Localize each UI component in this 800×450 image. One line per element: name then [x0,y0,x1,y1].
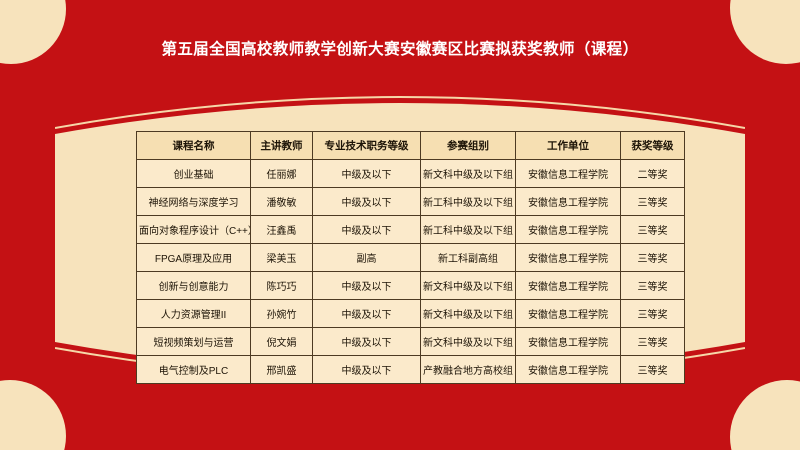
cell-teacher: 任丽娜 [251,160,313,188]
page-title: 第五届全国高校教师教学创新大赛安徽赛区比赛拟获奖教师（课程） [0,37,800,59]
award-table-body: 创业基础 任丽娜 中级及以下 新文科中级及以下组 安徽信息工程学院 二等奖 神经… [137,160,685,384]
cell-rank: 中级及以下 [313,272,421,300]
cell-teacher: 潘敬敏 [251,188,313,216]
table-row: 创新与创意能力 陈巧巧 中级及以下 新文科中级及以下组 安徽信息工程学院 三等奖 [137,272,685,300]
column-header-rank: 专业技术职务等级 [313,132,421,160]
cell-group: 新文科中级及以下组 [421,328,516,356]
cell-teacher: 汪鑫禹 [251,216,313,244]
cell-award: 三等奖 [621,188,685,216]
column-header-award: 获奖等级 [621,132,685,160]
cell-teacher: 陈巧巧 [251,272,313,300]
cell-group: 产教融合地方高校组 [421,356,516,384]
cell-teacher: 倪文娟 [251,328,313,356]
cell-course: 创新与创意能力 [137,272,251,300]
cell-award: 三等奖 [621,328,685,356]
table-row: 电气控制及PLC 邢凯盛 中级及以下 产教融合地方高校组 安徽信息工程学院 三等… [137,356,685,384]
cell-rank: 中级及以下 [313,188,421,216]
table-row: 人力资源管理II 孙婉竹 中级及以下 新文科中级及以下组 安徽信息工程学院 三等… [137,300,685,328]
cell-award: 三等奖 [621,300,685,328]
table-row: 短视频策划与运营 倪文娟 中级及以下 新文科中级及以下组 安徽信息工程学院 三等… [137,328,685,356]
cell-group: 新工科中级及以下组 [421,216,516,244]
cell-unit: 安徽信息工程学院 [516,216,621,244]
cell-unit: 安徽信息工程学院 [516,272,621,300]
table-row: 神经网络与深度学习 潘敬敏 中级及以下 新工科中级及以下组 安徽信息工程学院 三… [137,188,685,216]
cell-rank: 中级及以下 [313,160,421,188]
cell-award: 三等奖 [621,216,685,244]
cell-course: 面向对象程序设计（C++） [137,216,251,244]
cell-unit: 安徽信息工程学院 [516,188,621,216]
cell-teacher: 梁美玉 [251,244,313,272]
cell-teacher: 邢凯盛 [251,356,313,384]
cell-rank: 中级及以下 [313,356,421,384]
table-row: 创业基础 任丽娜 中级及以下 新文科中级及以下组 安徽信息工程学院 二等奖 [137,160,685,188]
cell-award: 三等奖 [621,244,685,272]
award-table: 课程名称 主讲教师 专业技术职务等级 参赛组别 工作单位 获奖等级 创业基础 任… [136,131,685,384]
column-header-group: 参赛组别 [421,132,516,160]
cell-course: 创业基础 [137,160,251,188]
cell-group: 新文科中级及以下组 [421,272,516,300]
cell-award: 三等奖 [621,272,685,300]
decorative-circle-bottom-right [730,380,800,450]
cell-course: FPGA原理及应用 [137,244,251,272]
cell-course: 电气控制及PLC [137,356,251,384]
column-header-course: 课程名称 [137,132,251,160]
table-row: FPGA原理及应用 梁美玉 副高 新工科副高组 安徽信息工程学院 三等奖 [137,244,685,272]
award-table-container: 课程名称 主讲教师 专业技术职务等级 参赛组别 工作单位 获奖等级 创业基础 任… [136,131,684,384]
column-header-teacher: 主讲教师 [251,132,313,160]
cell-unit: 安徽信息工程学院 [516,300,621,328]
cell-rank: 副高 [313,244,421,272]
cell-award: 三等奖 [621,356,685,384]
cell-group: 新工科中级及以下组 [421,188,516,216]
cell-course: 神经网络与深度学习 [137,188,251,216]
cell-unit: 安徽信息工程学院 [516,160,621,188]
cell-teacher: 孙婉竹 [251,300,313,328]
decorative-circle-bottom-left [0,380,66,450]
cell-group: 新文科中级及以下组 [421,300,516,328]
cell-rank: 中级及以下 [313,328,421,356]
cell-course: 短视频策划与运营 [137,328,251,356]
column-header-unit: 工作单位 [516,132,621,160]
cell-award: 二等奖 [621,160,685,188]
cell-group: 新工科副高组 [421,244,516,272]
cell-group: 新文科中级及以下组 [421,160,516,188]
cell-rank: 中级及以下 [313,216,421,244]
cell-rank: 中级及以下 [313,300,421,328]
cell-unit: 安徽信息工程学院 [516,244,621,272]
cell-unit: 安徽信息工程学院 [516,328,621,356]
table-row: 面向对象程序设计（C++） 汪鑫禹 中级及以下 新工科中级及以下组 安徽信息工程… [137,216,685,244]
cell-unit: 安徽信息工程学院 [516,356,621,384]
slide-canvas: 第五届全国高校教师教学创新大赛安徽赛区比赛拟获奖教师（课程） 课程名称 主讲教师… [0,0,800,450]
cell-course: 人力资源管理II [137,300,251,328]
table-header-row: 课程名称 主讲教师 专业技术职务等级 参赛组别 工作单位 获奖等级 [137,132,685,160]
